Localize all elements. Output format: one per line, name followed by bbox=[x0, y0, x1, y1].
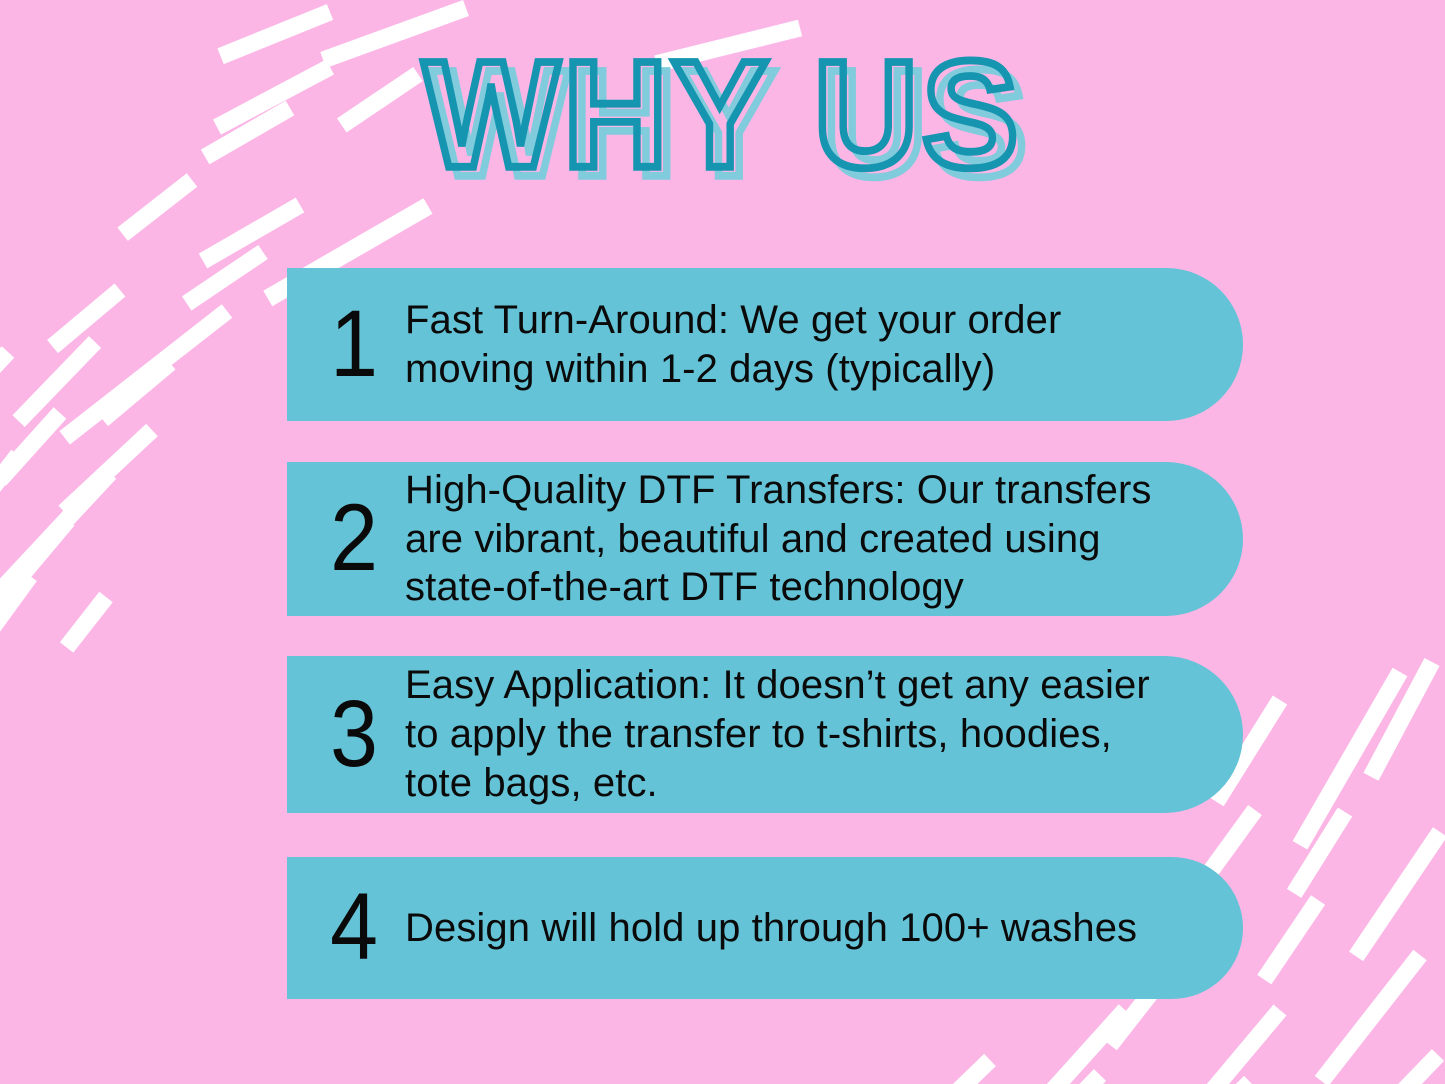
list-item: 4 Design will hold up through 100+ washe… bbox=[287, 857, 1243, 999]
dash-stripe bbox=[891, 1054, 996, 1084]
dash-stripe bbox=[0, 515, 75, 599]
dash-stripe bbox=[0, 346, 14, 415]
title-stack: WHY US WHY US bbox=[440, 38, 1006, 174]
list-item-line: Fast Turn-Around: We get your order bbox=[405, 296, 1061, 345]
list-item-text: Design will hold up through 100+ washes bbox=[405, 904, 1163, 953]
list-item-line: are vibrant, beautiful and created using bbox=[405, 515, 1152, 564]
list-item-line: High-Quality DTF Transfers: Our transfer… bbox=[405, 466, 1152, 515]
dash-stripe bbox=[58, 424, 157, 518]
dash-stripe bbox=[1031, 1069, 1106, 1084]
dash-stripe bbox=[1363, 658, 1439, 781]
dash-stripe bbox=[12, 336, 101, 427]
dash-stripe bbox=[1196, 1005, 1286, 1084]
poster-canvas: WHY US WHY US 1 Fast Turn-Around: We get… bbox=[0, 0, 1445, 1084]
dash-stripe bbox=[0, 571, 37, 676]
list-item-text: High-Quality DTF Transfers: Our transfer… bbox=[405, 466, 1178, 612]
dash-stripe bbox=[0, 467, 116, 607]
list-item-text: Fast Turn-Around: We get your order movi… bbox=[405, 296, 1087, 394]
dash-stripe bbox=[1321, 1049, 1444, 1084]
dash-stripe bbox=[199, 198, 304, 269]
list-item-number: 3 bbox=[311, 694, 397, 775]
dash-stripe bbox=[182, 245, 268, 311]
list-item-number: 4 bbox=[311, 887, 397, 968]
list-item-line: Easy Application: It doesn’t get any eas… bbox=[405, 661, 1150, 710]
title-main-layer: WHY US bbox=[423, 38, 1022, 190]
dash-stripe bbox=[59, 304, 232, 444]
dash-stripe bbox=[1018, 1004, 1131, 1084]
list-item: 2 High-Quality DTF Transfers: Our transf… bbox=[287, 462, 1243, 616]
dash-stripe bbox=[1257, 895, 1325, 984]
list-item-line: moving within 1-2 days (typically) bbox=[405, 345, 1061, 394]
dash-stripe bbox=[97, 356, 175, 426]
dash-stripe bbox=[1287, 807, 1352, 897]
list-item-line: to apply the transfer to t-shirts, hoodi… bbox=[405, 710, 1150, 759]
dash-stripe bbox=[0, 450, 25, 579]
list-item-text: Easy Application: It doesn’t get any eas… bbox=[405, 661, 1176, 807]
dash-stripe bbox=[1165, 1076, 1256, 1084]
list-item-number: 1 bbox=[311, 304, 397, 385]
list-item-line: Design will hold up through 100+ washes bbox=[405, 904, 1137, 953]
list-item: 3 Easy Application: It doesn’t get any e… bbox=[287, 656, 1243, 813]
dash-stripe bbox=[117, 173, 197, 241]
dash-stripe bbox=[0, 407, 66, 485]
list-item-line: state-of-the-art DTF technology bbox=[405, 563, 1152, 612]
page-title: WHY US WHY US bbox=[0, 38, 1445, 178]
list-item: 1 Fast Turn-Around: We get your order mo… bbox=[287, 268, 1243, 421]
dash-stripe bbox=[60, 592, 113, 653]
dash-stripe bbox=[1349, 827, 1445, 961]
list-item-line: tote bags, etc. bbox=[405, 759, 1150, 808]
list-item-number: 2 bbox=[311, 498, 397, 579]
dash-stripe bbox=[1293, 668, 1408, 850]
dash-stripe bbox=[47, 283, 125, 353]
dash-stripe bbox=[1315, 950, 1427, 1084]
